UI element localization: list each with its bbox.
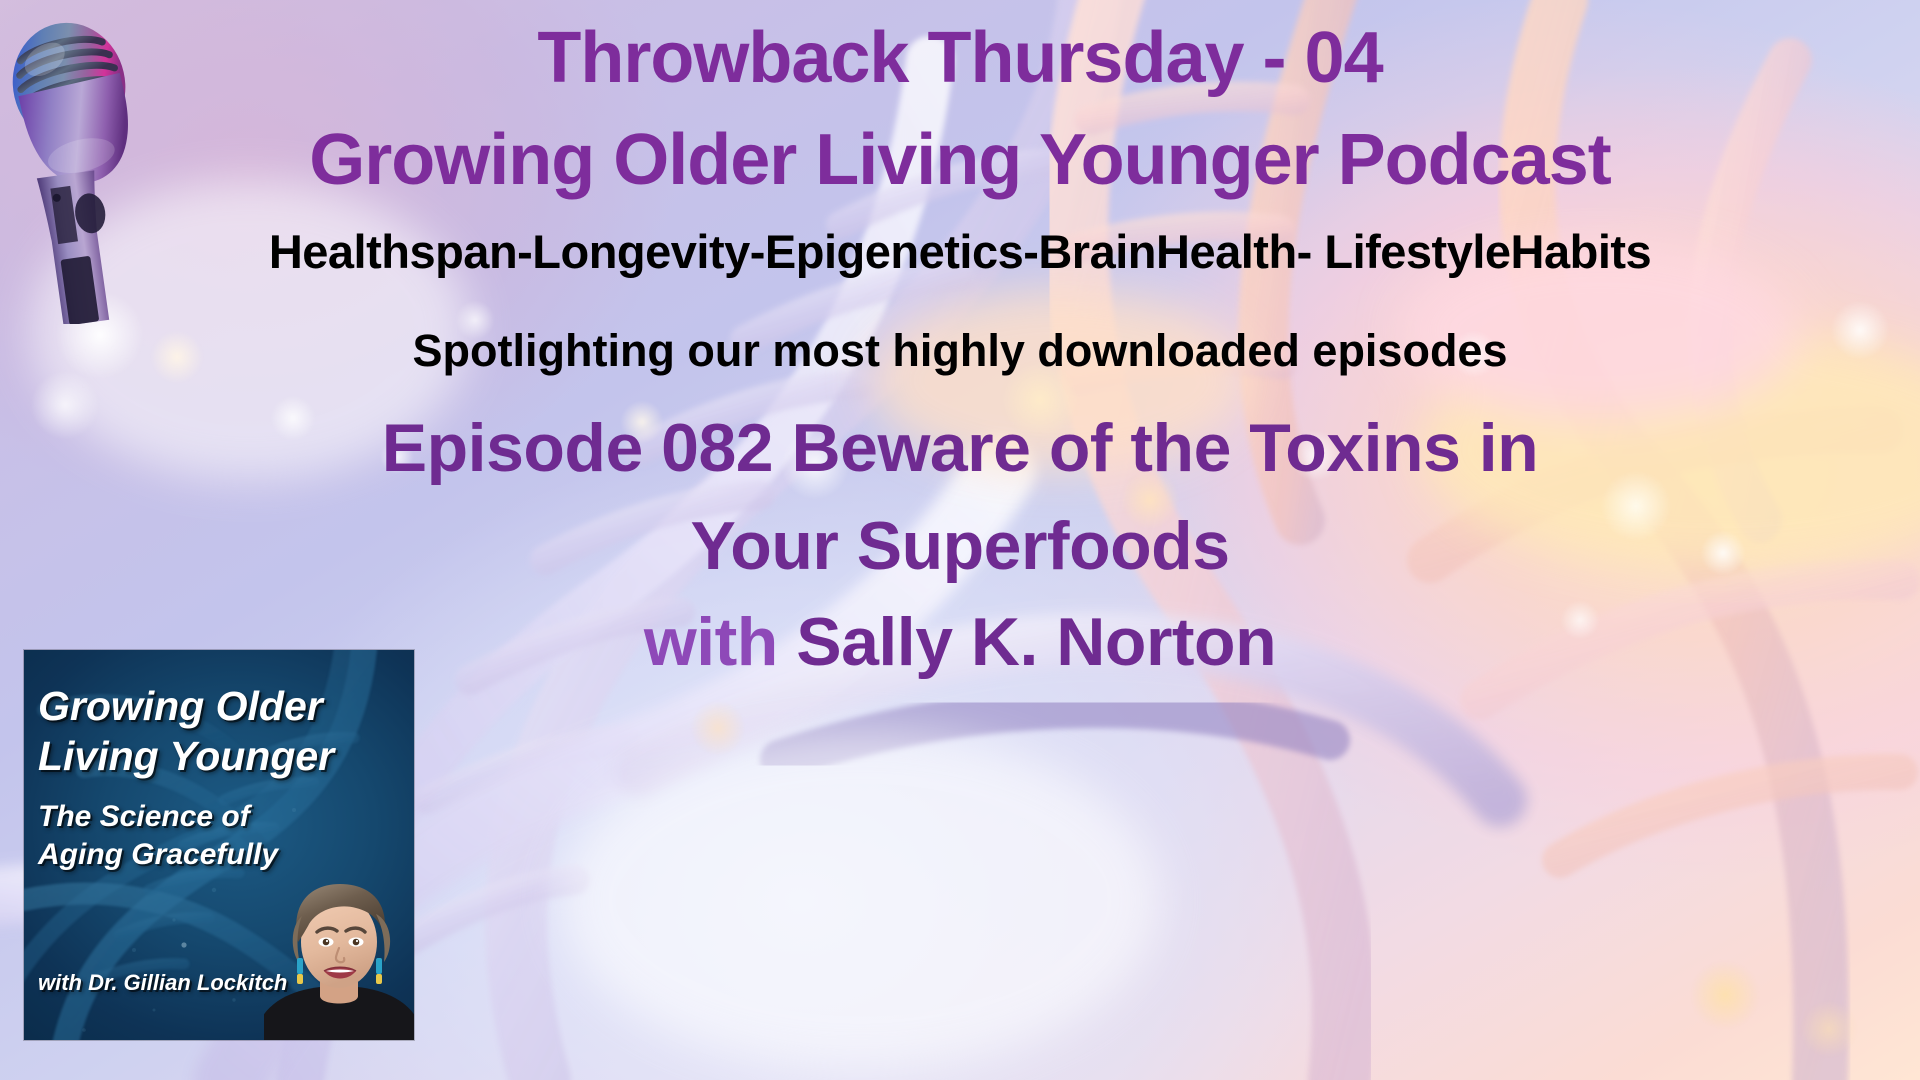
header-line-1: Throwback Thursday - 04 [0,22,1920,94]
episode-title-line-1: Episode 082 Beware of the Toxins in [0,414,1920,482]
header-line-2: Growing Older Living Younger Podcast [0,124,1920,196]
episode-title-line-2: Your Superfoods [0,512,1920,580]
keyword-list: Healthspan-Longevity-Epigenetics-BrainHe… [0,228,1920,275]
tagline: Spotlighting our most highly downloaded … [0,328,1920,373]
cover-subtitle-line-2: Aging Gracefully [24,840,414,871]
cover-title-line-1: Growing Older [24,686,414,728]
podcast-cover-art[interactable]: Growing Older Living Younger The Science… [24,650,414,1040]
cover-title-line-2: Living Younger [24,736,414,778]
cover-subtitle-line-1: The Science of [24,802,414,833]
host-portrait-photo [264,870,414,1040]
with-word: with [644,604,796,680]
podcast-promo-poster: Throwback Thursday - 04 Growing Older Li… [0,0,1920,1080]
guest-name: Sally K. Norton [796,604,1276,680]
